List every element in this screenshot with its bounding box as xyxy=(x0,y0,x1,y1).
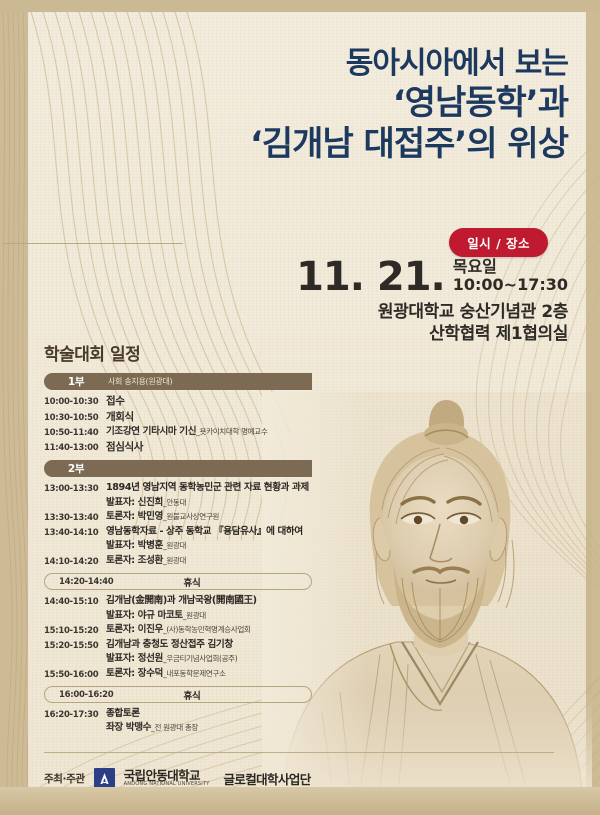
row-label: 발표자: 야규 마코토_원광대 xyxy=(106,610,312,622)
row-affiliation: _원불교사상연구원 xyxy=(163,512,219,521)
row-label: 개회식 xyxy=(106,411,312,425)
schedule-row: 발표자: 야규 마코토_원광대 xyxy=(44,610,312,622)
page-title: 동아시아에서 보는 ‘영남동학’과 ‘김개남 대접주’의 위상 xyxy=(168,46,568,166)
title-line-2: ‘영남동학’과 xyxy=(168,83,568,124)
schedule-row: 10:30-10:50 개회식 xyxy=(44,411,312,425)
row-label: 토론자: 조성환_원광대 xyxy=(106,555,312,567)
frame-band-bottom xyxy=(0,787,600,815)
event-time-range: 10:00~17:30 xyxy=(453,276,568,294)
row-label-main: 발표자: 신진희 xyxy=(106,497,163,508)
row-label-main: 기조강연 기타시마 기신 xyxy=(106,426,196,437)
row-label: 발표자: 박병훈_원광대 xyxy=(106,540,312,552)
row-label-main: 발표자: 정선원 xyxy=(106,653,163,664)
schedule-row: 10:00-10:30 접수 xyxy=(44,395,312,409)
row-label: 김개남과 충청도 정산접주 김기창 xyxy=(106,639,312,651)
row-time: 14:10-14:20 xyxy=(44,555,106,567)
row-affiliation: _원광대 xyxy=(183,611,206,620)
schedule-row: 발표자: 신진희_안동대 xyxy=(44,497,312,509)
row-time: 16:20-17:30 xyxy=(44,708,106,720)
row-label: 영남동학자료 - 상주 동학교 『용담유사』에 대하여 xyxy=(106,526,312,538)
row-label: 김개남(金開南)과 개남국왕(開南國王) xyxy=(106,595,312,607)
row-affiliation: _(사)동학농민혁명계승사업회 xyxy=(163,625,251,634)
footer-divider xyxy=(44,752,554,753)
row-affiliation: _전 원광대 총장 xyxy=(151,723,198,732)
row-label-main: 발표자: 박병훈 xyxy=(106,540,163,551)
break-label: 휴식 xyxy=(115,688,311,702)
row-time: 11:40-13:00 xyxy=(44,441,106,453)
host-label: 주최·주관 xyxy=(44,771,85,786)
row-time: 13:00-13:30 xyxy=(44,482,106,494)
row-label-main: 토론자: 조성환 xyxy=(106,555,163,566)
row-time: 10:30-10:50 xyxy=(44,411,106,423)
schedule-row: 14:40-15:10 김개남(金開南)과 개남국왕(開南國王) xyxy=(44,595,312,607)
break-time: 14:20-14:40 xyxy=(45,577,115,587)
schedule-row: 13:00-13:30 1894년 영남지역 동학농민군 관련 자료 현황과 과… xyxy=(44,482,312,494)
row-affiliation: _안동대 xyxy=(163,498,186,507)
row-time xyxy=(44,497,106,499)
schedule-row: 15:20-15:50 김개남과 충청도 정산접주 김기창 xyxy=(44,639,312,651)
row-time: 15:20-15:50 xyxy=(44,639,106,651)
break-row-2: 16:00-16:20 휴식 xyxy=(44,686,312,703)
row-label-main: 좌장 박맹수 xyxy=(106,722,151,733)
part-rows-1: 10:00-10:30 접수 10:30-10:50 개회식 10:50-11:… xyxy=(44,395,312,454)
break-row-1: 14:20-14:40 휴식 xyxy=(44,573,312,590)
row-label: 토론자: 이진우_(사)동학농민혁명계승사업회 xyxy=(106,624,312,636)
logo-text-block: 국립안동대학교 ANDONG NATIONAL UNIVERSITY xyxy=(124,769,210,787)
row-label: 접수 xyxy=(106,395,312,409)
title-line-1: 동아시아에서 보는 xyxy=(168,46,568,83)
row-label-main: 발표자: 야규 마코토 xyxy=(106,610,183,621)
footer: 주최·주관 국립안동대학교 ANDONG NATIONAL UNIVERSITY… xyxy=(44,768,311,789)
part-header-1: 1부 사회 송지용(원광대) xyxy=(44,373,312,390)
row-time: 14:40-15:10 xyxy=(44,595,106,607)
row-affiliation: _욧카이치대학 명예교수 xyxy=(196,427,267,436)
break-time: 16:00-16:20 xyxy=(45,690,115,700)
schedule-row: 15:10-15:20 토론자: 이진우_(사)동학농민혁명계승사업회 xyxy=(44,624,312,636)
row-label: 1894년 영남지역 동학농민군 관련 자료 현황과 과제 xyxy=(106,482,312,494)
schedule-row: 13:40-14:10 영남동학자료 - 상주 동학교 『용담유사』에 대하여 xyxy=(44,526,312,538)
title-line-3: ‘김개남 대접주’의 위상 xyxy=(168,124,568,165)
event-day-of-week: 목요일 xyxy=(453,259,568,276)
after-break-2-rows: 16:20-17:30 종합토론 좌장 박맹수_전 원광대 총장 xyxy=(44,708,312,735)
row-label-main: 토론자: 장수덕 xyxy=(106,668,163,679)
row-affiliation: _원광대 xyxy=(163,541,186,550)
part-chair-1: 사회 송지용(원광대) xyxy=(108,376,172,387)
row-affiliation: _우금티기념사업회(공주) xyxy=(163,654,237,663)
row-label: 토론자: 박민영_원불교사상연구원 xyxy=(106,511,312,523)
project-unit-name: 글로컬대학사업단 xyxy=(223,769,310,788)
schedule-row: 11:40-13:00 점심식사 xyxy=(44,441,312,455)
row-label: 토론자: 장수덕_내포동학문제연구소 xyxy=(106,668,312,680)
row-affiliation: _원광대 xyxy=(163,556,186,565)
poster-root: 동아시아에서 보는 ‘영남동학’과 ‘김개남 대접주’의 위상 일시 / 장소 … xyxy=(0,0,600,815)
row-time xyxy=(44,653,106,655)
frame-band-top xyxy=(0,0,600,12)
schedule-row: 10:50-11:40 기조강연 기타시마 기신_욧카이치대학 명예교수 xyxy=(44,426,312,438)
date-venue-block: 11. 21. 목요일 10:00~17:30 원광대학교 숭산기념관 2층 산… xyxy=(268,258,568,346)
schedule-row: 14:10-14:20 토론자: 조성환_원광대 xyxy=(44,555,312,567)
break-label: 휴식 xyxy=(115,575,311,589)
row-label: 발표자: 신진희_안동대 xyxy=(106,497,312,509)
row-label: 좌장 박맹수_전 원광대 총장 xyxy=(106,722,312,734)
part-name-2: 2부 xyxy=(44,461,108,476)
row-affiliation: _내포동학문제연구소 xyxy=(163,669,226,678)
status-badge: 일시 / 장소 xyxy=(449,228,548,257)
row-time: 13:40-14:10 xyxy=(44,526,106,538)
venue-line-2: 산학협력 제1협의실 xyxy=(268,324,568,346)
part-header-2: 2부 xyxy=(44,460,312,477)
part-name-1: 1부 xyxy=(44,374,108,389)
venue-line-1: 원광대학교 숭산기념관 2층 xyxy=(268,302,568,324)
row-time: 15:10-15:20 xyxy=(44,624,106,636)
after-break-1-rows: 14:40-15:10 김개남(金開南)과 개남국왕(開南國王) 발표자: 야규… xyxy=(44,595,312,680)
schedule-section: 학술대회 일정 1부 사회 송지용(원광대) 10:00-10:30 접수 10… xyxy=(44,340,312,737)
schedule-row: 13:30-13:40 토론자: 박민영_원불교사상연구원 xyxy=(44,511,312,523)
row-time xyxy=(44,610,106,612)
row-time: 13:30-13:40 xyxy=(44,511,106,523)
row-time: 10:50-11:40 xyxy=(44,426,106,438)
row-label: 점심식사 xyxy=(106,441,312,455)
row-time: 10:00-10:30 xyxy=(44,395,106,407)
row-label: 기조강연 기타시마 기신_욧카이치대학 명예교수 xyxy=(106,426,312,438)
row-label: 종합토론 xyxy=(106,708,312,720)
row-label: 발표자: 정선원_우금티기념사업회(공주) xyxy=(106,653,312,665)
schedule-heading: 학술대회 일정 xyxy=(44,340,312,365)
part-rows-2: 13:00-13:30 1894년 영남지역 동학농민군 관련 자료 현황과 과… xyxy=(44,482,312,567)
row-label-main: 토론자: 박민영 xyxy=(106,511,163,522)
andong-university-logo-icon xyxy=(94,768,115,789)
row-time xyxy=(44,722,106,724)
row-time: 15:50-16:00 xyxy=(44,668,106,680)
schedule-row: 15:50-16:00 토론자: 장수덕_내포동학문제연구소 xyxy=(44,668,312,680)
schedule-row: 발표자: 정선원_우금티기념사업회(공주) xyxy=(44,653,312,665)
event-date: 11. 21. xyxy=(296,258,445,296)
schedule-row: 16:20-17:30 종합토론 xyxy=(44,708,312,720)
schedule-row: 좌장 박맹수_전 원광대 총장 xyxy=(44,722,312,734)
divider-rule xyxy=(3,243,183,244)
event-venue: 원광대학교 숭산기념관 2층 산학협력 제1협의실 xyxy=(268,302,568,346)
row-time xyxy=(44,540,106,542)
wave-texture-border-left xyxy=(0,0,28,815)
schedule-row: 발표자: 박병훈_원광대 xyxy=(44,540,312,552)
row-label-main: 토론자: 이진우 xyxy=(106,624,163,635)
